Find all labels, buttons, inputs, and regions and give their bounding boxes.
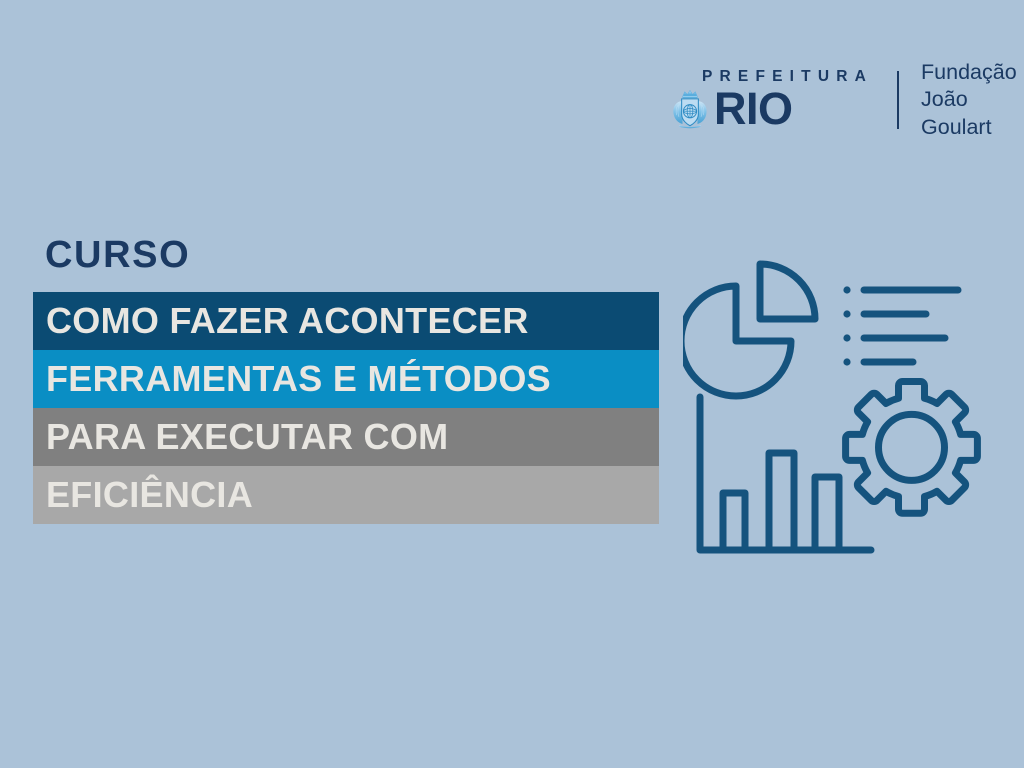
title-band-4-text: EFICIÊNCIA (46, 477, 253, 513)
title-band-4: EFICIÊNCIA (33, 466, 659, 524)
logo-divider (897, 71, 899, 129)
title-band-3: PARA EXECUTAR COM (33, 408, 659, 466)
analytics-infographic (683, 252, 988, 567)
rio-wordmark-row: RIO (668, 87, 873, 131)
title-area: CURSO COMO FAZER ACONTECER FERRAMENTAS E… (33, 236, 673, 524)
title-band-3-text: PARA EXECUTAR COM (46, 419, 448, 455)
prefeitura-rio-logo: PREFEITURA (668, 69, 873, 132)
title-band-1-text: COMO FAZER ACONTECER (46, 303, 529, 339)
brand-logo-block: PREFEITURA (668, 62, 1024, 138)
title-band-2: FERRAMENTAS E MÉTODOS (33, 350, 659, 408)
rio-coat-of-arms-icon (668, 87, 712, 131)
rio-wordmark: RIO (714, 90, 793, 129)
gear-icon (846, 382, 978, 514)
title-band-2-text: FERRAMENTAS E MÉTODOS (46, 361, 551, 397)
foundation-name-label: Fundação João Goulart (921, 59, 1024, 140)
course-poster: PREFEITURA (0, 0, 1024, 768)
pie-chart-icon (683, 264, 815, 396)
bar-chart-icon (700, 397, 871, 550)
bulleted-list-icon (843, 286, 958, 365)
course-kicker-label: CURSO (45, 236, 673, 274)
title-band-1: COMO FAZER ACONTECER (33, 292, 659, 350)
prefeitura-wordmark: PREFEITURA (702, 69, 873, 85)
